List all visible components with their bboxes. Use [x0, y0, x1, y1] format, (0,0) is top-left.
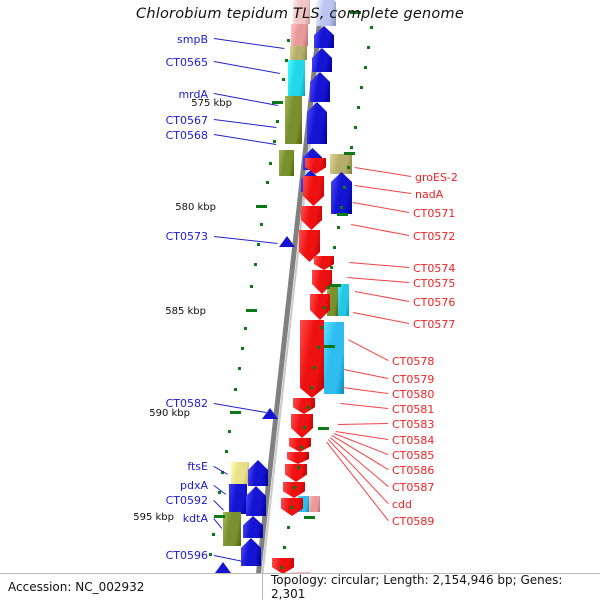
- gene-label-ct0583[interactable]: CT0583: [392, 418, 434, 431]
- scale-tick-minor: [282, 78, 285, 81]
- gene-label-cdd[interactable]: cdd: [392, 498, 412, 511]
- scale-tick-minor: [290, 506, 293, 509]
- scale-tick-minor: [228, 430, 231, 433]
- accession-status: Accession: NC_002932: [0, 574, 262, 600]
- scale-tick-minor: [225, 450, 228, 453]
- gene-label-kdta[interactable]: kdtA: [98, 512, 208, 525]
- gene-label-ct0585[interactable]: CT0585: [392, 449, 434, 462]
- scale-tick-major: [230, 411, 241, 414]
- status-bar: Accession: NC_002932 Topology: circular;…: [0, 573, 600, 600]
- scale-tick-minor: [244, 327, 247, 330]
- gene-label-ct0575[interactable]: CT0575: [413, 277, 455, 290]
- topology-status: Topology: circular; Length: 2,154,946 bp…: [262, 574, 600, 600]
- scale-tick-minor: [241, 347, 244, 350]
- scale-tick-minor: [343, 186, 346, 189]
- gene-label-smpb[interactable]: smpB: [98, 33, 208, 46]
- scale-tick-minor: [266, 181, 269, 184]
- scale-tick-minor: [287, 39, 290, 42]
- gene-label-ct0586[interactable]: CT0586: [392, 464, 434, 477]
- scale-tick-minor: [234, 388, 237, 391]
- scale-tick-minor: [357, 106, 360, 109]
- scale-tick-minor: [297, 466, 300, 469]
- accent-groes2-khaki[interactable]: [330, 154, 352, 174]
- scale-tick-minor: [333, 246, 336, 249]
- gene-label-ct0577[interactable]: CT0577: [413, 318, 455, 331]
- genome-viewer-canvas[interactable]: 575 kbp580 kbp585 kbp590 kbp595 kbpsmpBC…: [0, 0, 600, 600]
- scale-tick-minor: [340, 206, 343, 209]
- scale-tick-minor: [293, 486, 296, 489]
- scale-tick-minor: [250, 285, 253, 288]
- scale-tick-minor: [347, 166, 350, 169]
- gene-label-ct0574[interactable]: CT0574: [413, 262, 455, 275]
- scale-tick-minor: [303, 426, 306, 429]
- scale-tick-major: [330, 284, 341, 287]
- gene-label-ct0578[interactable]: CT0578: [392, 355, 434, 368]
- gene-label-mrda[interactable]: mrdA: [98, 88, 208, 101]
- accent-ct0587-pink[interactable]: [309, 496, 320, 512]
- scale-tick-minor: [323, 306, 326, 309]
- gene-label-ct0596[interactable]: CT0596: [98, 549, 208, 562]
- scale-tick-minor: [212, 533, 215, 536]
- feature-rose[interactable]: [291, 24, 308, 46]
- scale-tick-major: [246, 309, 257, 312]
- scale-tick-minor: [364, 66, 367, 69]
- scale-tick-minor: [360, 86, 363, 89]
- scale-tick-major: [256, 205, 267, 208]
- arrow-top-lav[interactable]: [316, 0, 336, 26]
- gene-label-ct0587[interactable]: CT0587: [392, 481, 434, 494]
- scale-tick-major: [344, 152, 355, 155]
- gene-label-ct0573[interactable]: CT0573: [98, 230, 208, 243]
- feature-ftse[interactable]: [231, 462, 249, 484]
- gene-label-ct0581[interactable]: CT0581: [392, 403, 434, 416]
- scale-tick-minor: [313, 366, 316, 369]
- gene-label-ct0582[interactable]: CT0582: [98, 397, 208, 410]
- feature-ct0567[interactable]: [279, 150, 294, 176]
- scale-tick-minor: [287, 526, 290, 529]
- accent-ct0576-cyan[interactable]: [338, 284, 349, 316]
- accent-ct0578-cyan[interactable]: [324, 322, 344, 394]
- scale-tick-minor: [320, 326, 323, 329]
- scale-tick-minor: [367, 46, 370, 49]
- gene-label-ct0580[interactable]: CT0580: [392, 388, 434, 401]
- feature-ct0565[interactable]: [288, 60, 305, 96]
- gene-label-ct0565[interactable]: CT0565: [98, 56, 208, 69]
- scale-tick-minor: [280, 566, 283, 569]
- scale-tick-major: [324, 345, 335, 348]
- scale-tick-minor: [350, 146, 353, 149]
- scale-tick-minor: [300, 446, 303, 449]
- gene-label-ct0567[interactable]: CT0567: [98, 114, 208, 127]
- scale-tick-minor: [276, 120, 279, 123]
- scale-tick-minor: [269, 162, 272, 165]
- scale-tick-minor: [238, 367, 241, 370]
- scale-tick-major: [350, 11, 361, 14]
- scale-tick-minor: [307, 406, 310, 409]
- feature-pdxa[interactable]: [229, 484, 247, 514]
- scale-tick-major: [214, 515, 225, 518]
- scale-label: 585 kbp: [146, 306, 206, 317]
- scale-tick-minor: [330, 266, 333, 269]
- scale-tick-minor: [354, 126, 357, 129]
- scale-tick-minor: [283, 546, 286, 549]
- scale-tick-major: [337, 213, 348, 216]
- feature-kdta[interactable]: [223, 512, 241, 546]
- scale-tick-minor: [317, 346, 320, 349]
- feature-mrda[interactable]: [285, 96, 302, 144]
- scale-tick-major: [304, 516, 315, 519]
- gene-label-ct0576[interactable]: CT0576: [413, 296, 455, 309]
- scale-tick-minor: [209, 553, 212, 556]
- gene-label-ct0571[interactable]: CT0571: [413, 207, 455, 220]
- gene-label-nada[interactable]: nadA: [415, 188, 443, 201]
- gene-label-ct0572[interactable]: CT0572: [413, 230, 455, 243]
- gene-label-pdxa[interactable]: pdxA: [98, 479, 208, 492]
- scale-tick-minor: [257, 243, 260, 246]
- gene-label-ct0579[interactable]: CT0579: [392, 373, 434, 386]
- scale-tick-minor: [285, 59, 288, 62]
- gene-label-ct0592[interactable]: CT0592: [98, 494, 208, 507]
- gene-label-ftse[interactable]: ftsE: [98, 460, 208, 473]
- scale-tick-minor: [254, 263, 257, 266]
- scale-label: 580 kbp: [156, 202, 216, 213]
- scale-tick-minor: [370, 26, 373, 29]
- feature-smpb[interactable]: [290, 46, 307, 60]
- scale-tick-minor: [260, 223, 263, 226]
- scale-tick-minor: [337, 226, 340, 229]
- scale-tick-minor: [273, 140, 276, 143]
- gene-label-groes-2[interactable]: groES-2: [415, 171, 458, 184]
- scale-tick-major: [318, 427, 329, 430]
- gene-label-ct0584[interactable]: CT0584: [392, 434, 434, 447]
- gene-label-ct0568[interactable]: CT0568: [98, 129, 208, 142]
- scale-tick-minor: [310, 386, 313, 389]
- gene-label-ct0589[interactable]: CT0589: [392, 515, 434, 528]
- feature-top-pink[interactable]: [293, 0, 310, 24]
